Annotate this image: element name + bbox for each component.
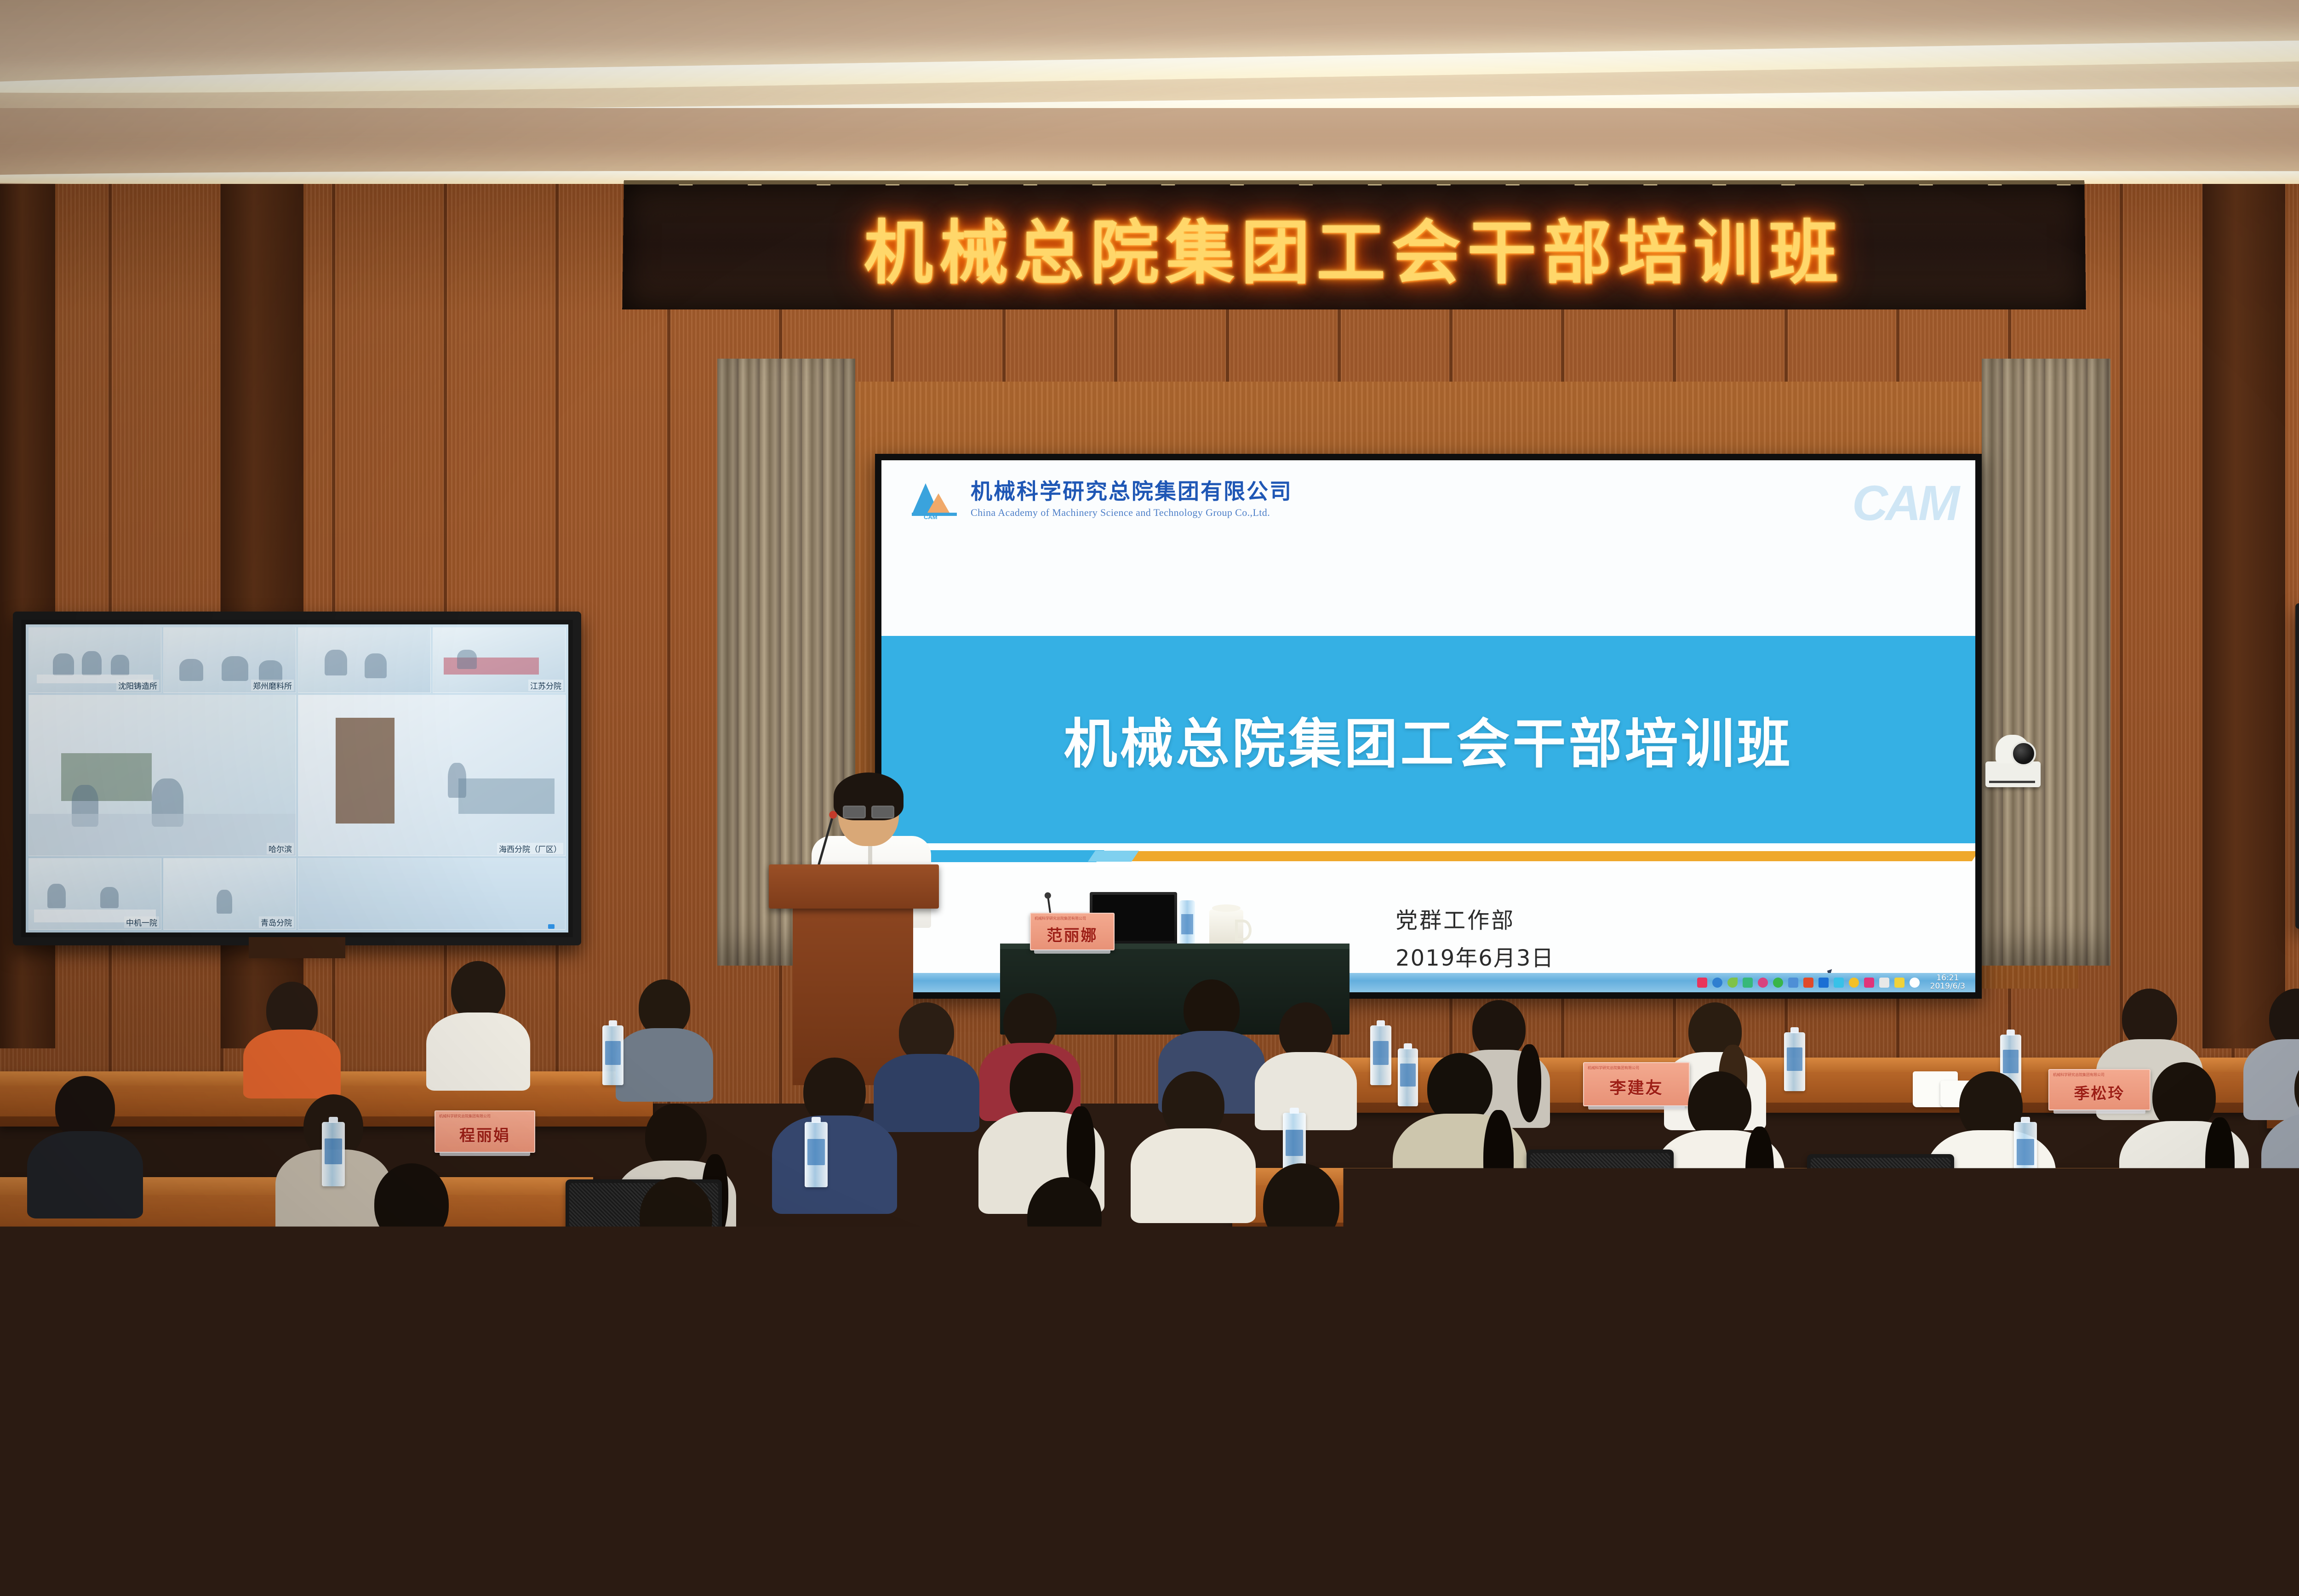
nameplate-name: 程丽娟 xyxy=(459,1123,510,1145)
water-bottle xyxy=(2014,1223,2041,1298)
cam-logo-icon: CAM xyxy=(910,481,961,523)
water-bottle xyxy=(1370,1025,1391,1085)
monitor-icon[interactable] xyxy=(1788,978,1798,988)
notebook xyxy=(529,1366,713,1407)
monitor-power-led xyxy=(548,924,555,929)
stage-curtain-right xyxy=(1982,359,2110,966)
tea-cup xyxy=(1209,910,1243,948)
battery-icon[interactable] xyxy=(1743,978,1753,988)
nameplate-name: 范丽娜 xyxy=(1047,923,1098,945)
nameplate-org: 机械科学研究总院集团有限公司 xyxy=(439,1114,491,1119)
audience-member-foreground xyxy=(331,1232,547,1545)
accent-gold-bar xyxy=(1119,851,1975,861)
slide-title: 机械总院集团工会干部培训班 xyxy=(1064,701,1793,778)
hands-icon[interactable] xyxy=(1879,978,1889,988)
audience-member-foreground xyxy=(2097,1251,2299,1596)
plus-circle-icon[interactable] xyxy=(1849,978,1859,988)
video-tile-label: 郑州磨料所 xyxy=(251,680,294,691)
nameplate-head-table: 机械科学研究总院集团有限公司 范丽娜 xyxy=(1030,913,1115,950)
camera-lens-icon xyxy=(2011,741,2036,766)
audience-member xyxy=(244,982,340,1087)
accent-blue-bar-2 xyxy=(1088,851,1139,862)
volume-icon[interactable] xyxy=(1910,978,1920,988)
system-tray[interactable]: 16:21 2019/6/3 xyxy=(1697,974,1975,991)
handbag-handle-icon xyxy=(1998,1350,2070,1395)
ceiling-upper xyxy=(0,0,2299,124)
video-tile xyxy=(298,627,431,693)
audience-member xyxy=(602,1177,749,1370)
slide-subtitle: 党群工作部 xyxy=(1395,902,1515,934)
checkmark-icon[interactable] xyxy=(1834,978,1844,988)
audience-member-foreground xyxy=(41,1320,253,1596)
audience-member xyxy=(1255,1002,1356,1122)
nameplate-row4-a: 机械科学研究总院集团有限公司 中机认检 xyxy=(1652,1248,1805,1313)
document-paper xyxy=(1701,1216,1830,1247)
video-tile-main-right: 海西分院（厂区） xyxy=(298,695,566,856)
taskbar-clock[interactable]: 16:21 2019/6/3 xyxy=(1925,974,1971,991)
monitor-stand xyxy=(249,937,345,958)
audience-member xyxy=(28,1076,143,1214)
water-bottle xyxy=(1338,1375,1374,1481)
slide-date: 2019年6月3日 xyxy=(1395,940,1554,972)
monitor-left-screen: 沈阳铸造所 郑州磨料所 江苏分院 xyxy=(26,624,568,932)
bluetooth-icon[interactable] xyxy=(1819,978,1829,988)
clock-date: 2019/6/3 xyxy=(1930,982,1965,991)
audience-member xyxy=(772,1058,897,1214)
audience-member xyxy=(616,979,713,1094)
shield-check-icon[interactable] xyxy=(1773,978,1783,988)
document-paper xyxy=(560,1517,847,1582)
water-bottle xyxy=(602,1025,623,1085)
video-wall-monitor-left[interactable]: 沈阳铸造所 郑州磨料所 江苏分院 xyxy=(13,612,581,945)
help-icon[interactable] xyxy=(1712,978,1722,988)
nameplate-name: 中机认检 xyxy=(1676,1266,1781,1303)
video-wall-monitor-right[interactable]: 沈阳铸造所 郑州磨料所 江苏分院 哈尔滨 xyxy=(2295,603,2299,929)
logo-english-name: China Academy of Machinery Science and T… xyxy=(971,507,1292,519)
video-tile-label: 沈阳铸造所 xyxy=(116,680,159,691)
document-paper xyxy=(1039,1299,1233,1341)
banner-title: 机械总院集团工会干部培训班 xyxy=(864,197,1845,297)
eyeglasses-icon xyxy=(843,806,894,816)
logo-chinese-name: 机械科学研究总院集团有限公司 xyxy=(971,481,1292,503)
sogou-input-icon[interactable] xyxy=(1697,978,1707,988)
nameplate-org: 机械科学研究总院集团有限公司 xyxy=(1035,916,1086,921)
video-tile-label: 江苏分院 xyxy=(528,680,563,691)
water-bottle xyxy=(317,1389,353,1493)
water-bottle xyxy=(1784,1032,1805,1091)
handbag xyxy=(1963,1384,2101,1536)
company-logo: CAM 机械科学研究总院集团有限公司 China Academy of Mach… xyxy=(910,481,1292,523)
wall-pilaster-right xyxy=(2202,184,2285,1048)
volume-mute-icon[interactable] xyxy=(1803,978,1813,988)
video-tile: 中机一院 xyxy=(29,858,161,930)
video-tile: 青岛分院 xyxy=(163,858,296,930)
audience-member xyxy=(2120,1062,2248,1223)
water-bottle xyxy=(805,1122,828,1187)
slide-title-band: 机械总院集团工会干部培训班 xyxy=(881,636,1975,843)
led-banner: 机械总院集团工会干部培训班 xyxy=(622,180,2086,309)
nameplate-row2-a: 机械科学研究总院集团有限公司 程丽娟 xyxy=(435,1110,535,1153)
audience-member xyxy=(428,961,529,1090)
video-tile: 沈阳铸造所 xyxy=(29,627,161,693)
video-tile-empty xyxy=(298,858,566,930)
video-tile: 郑州磨料所 xyxy=(163,627,296,693)
svg-text:CAM: CAM xyxy=(924,514,938,521)
nameplate-org: 机械科学研究总院集团有限公司 xyxy=(2053,1072,2105,1077)
video-tile: 江苏分院 xyxy=(433,627,566,693)
water-bottle xyxy=(2014,1122,2037,1187)
audience-member xyxy=(2262,1053,2299,1218)
video-tile-label: 中机一院 xyxy=(124,916,159,928)
nameplate-org: 机械科学研究总院集团有限公司 xyxy=(1656,1252,1708,1257)
video-tile-label: 海西分院（厂区） xyxy=(497,843,563,854)
audience-member xyxy=(1393,1053,1527,1228)
video-tile-label: 青岛分院 xyxy=(259,916,294,928)
nameplate-org: 机械科学研究总院集团有限公司 xyxy=(1588,1065,1639,1070)
leaf-icon[interactable] xyxy=(1727,978,1738,988)
audience-member-foreground xyxy=(1462,1329,1692,1596)
nameplate-name: 季松玲 xyxy=(2074,1081,2125,1104)
video-tile-main-left: 哈尔滨 xyxy=(29,695,296,856)
video-tile-label: 哈尔滨 xyxy=(267,843,294,854)
signal-bars-icon[interactable] xyxy=(1894,978,1904,988)
slide-header: CAM 机械科学研究总院集团有限公司 China Academy of Mach… xyxy=(881,460,1975,636)
conference-hall-photo: 机械总院集团工会干部培训班 沈阳铸造所 郑州磨料所 xyxy=(0,0,2299,1596)
ptz-camera-icon xyxy=(1985,732,2041,787)
slide-accent-rule xyxy=(881,843,1975,867)
document-paper xyxy=(2032,1203,2171,1231)
water-bottle xyxy=(1179,900,1195,950)
pdf-icon[interactable] xyxy=(1864,978,1874,988)
backpack xyxy=(1807,1352,1954,1545)
circle-loader-icon[interactable] xyxy=(1758,978,1768,988)
water-bottle xyxy=(1195,1338,1229,1435)
cam-watermark: CAM xyxy=(1852,474,1957,532)
